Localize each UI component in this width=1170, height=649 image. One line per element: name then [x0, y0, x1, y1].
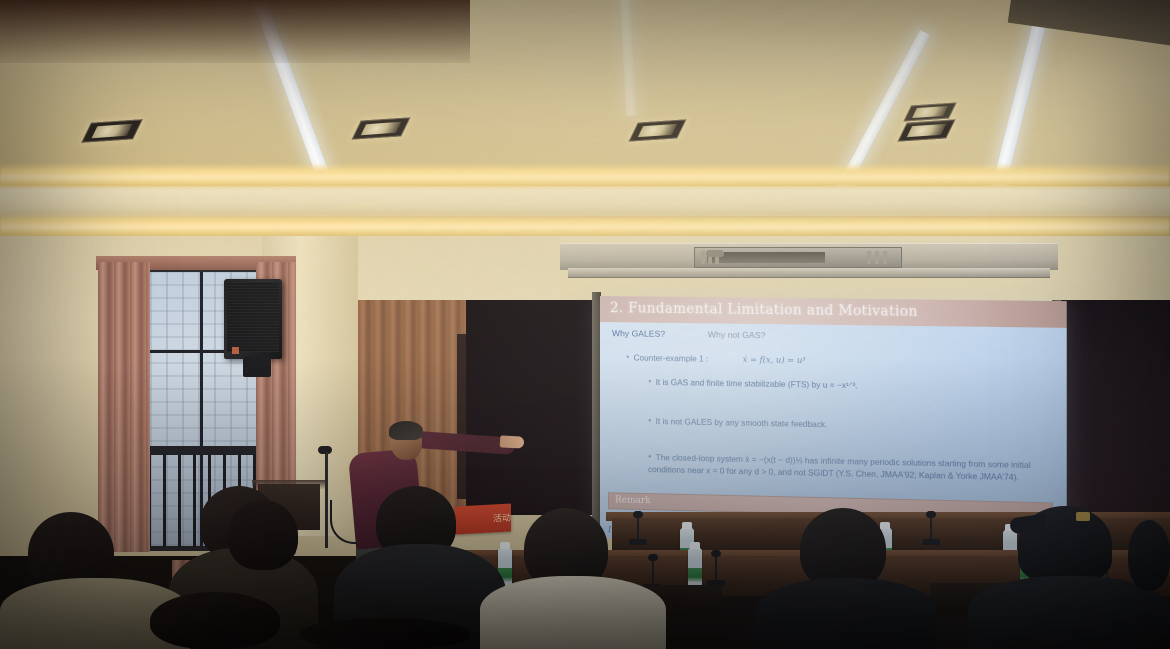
audience-head — [1128, 520, 1170, 590]
event-banner: 活动 — [455, 504, 511, 535]
microphone-stand — [325, 452, 328, 548]
bullet-4-text: The closed-loop system ẋ = −(x(t − d))⅓ … — [648, 453, 1031, 482]
banner-text: 活动 — [493, 511, 511, 525]
screen-surround-right — [1058, 300, 1170, 520]
air-conditioning-vent — [694, 247, 902, 268]
speaker-grille — [227, 282, 279, 352]
cove-light-band — [0, 214, 1170, 238]
speaker-indicator-led — [232, 347, 239, 354]
screen-surround-left — [466, 300, 594, 515]
bullet-1-equation: ẋ = f(x, u) = u³ — [743, 354, 806, 365]
audience-head — [150, 592, 280, 649]
vent-slot — [707, 252, 825, 263]
slide-bullet-2: ●It is GAS and finite time stabilizable … — [648, 377, 858, 392]
question-secondary: Why not GAS? — [708, 329, 766, 340]
audience-head — [300, 618, 470, 649]
slide-question-line: Why GALES? Why not GAS? — [612, 328, 765, 340]
wall-speaker-icon — [224, 279, 282, 359]
desk-microphone — [637, 517, 639, 541]
slide-bullet-4: ●The closed-loop system ẋ = −(x(t − d))⅓… — [648, 452, 1044, 485]
lecture-hall-photo: 2. Fundamental Limitation and Motivation… — [0, 0, 1170, 649]
curtain-left — [98, 262, 150, 552]
desk-microphone — [930, 517, 932, 541]
presenter-hair — [389, 421, 423, 440]
bullet-3-text: It is not GALES by any smooth state feed… — [656, 417, 828, 429]
question-primary: Why GALES? — [612, 328, 665, 339]
slide-bullet-1: ●Counter-example 1 :ẋ = f(x, u) = u³ — [626, 352, 806, 367]
presenter-hand-icon — [500, 435, 525, 448]
audience-head — [228, 500, 298, 570]
cove-light-band — [0, 163, 1170, 189]
water-bottle — [688, 548, 702, 590]
bullet-2-text: It is GAS and finite time stabilizable (… — [656, 378, 858, 390]
slide-bullet-3: ●It is not GALES by any smooth state fee… — [648, 416, 827, 431]
desk-microphone — [652, 560, 654, 586]
bullet-1-label: Counter-example 1 : — [634, 353, 709, 363]
screen-roller-bar — [568, 268, 1050, 278]
audience-shoulders — [756, 578, 936, 649]
cap-logo-icon — [1076, 512, 1090, 521]
ceiling-cove-step — [0, 186, 1170, 216]
front-desk-left — [0, 0, 470, 63]
audience-shoulders-cream — [480, 576, 666, 649]
ceiling-sensor-icon — [706, 250, 724, 257]
desk-microphone — [715, 556, 717, 582]
remark-heading: Remark — [615, 495, 651, 506]
speaker-mount-bracket — [243, 357, 271, 377]
